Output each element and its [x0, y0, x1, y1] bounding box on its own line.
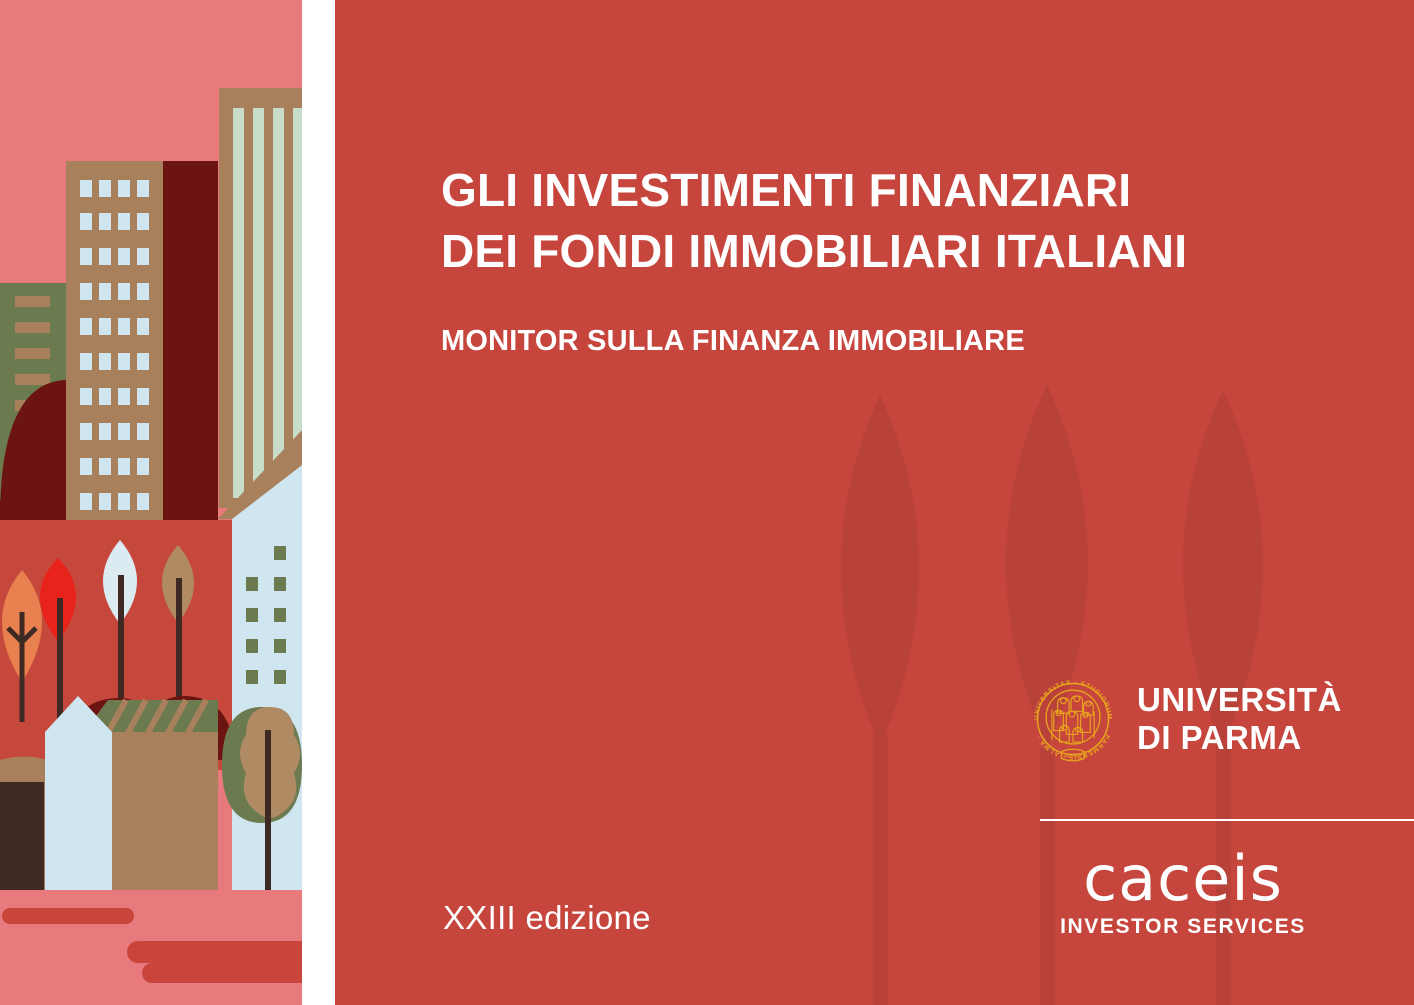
- house-body-shape: [112, 732, 218, 890]
- university-name: UNIVERSITÀ DI PARMA: [1137, 681, 1342, 756]
- cover-main-panel: GLI INVESTIMENTI FINANZIARI DEI FONDI IM…: [335, 0, 1414, 1005]
- cypress-trunk-1: [873, 735, 888, 1005]
- edition-label: XXIII edizione: [443, 899, 651, 937]
- caceis-tagline: INVESTOR SERVICES: [1033, 916, 1333, 937]
- ground-stripe-2: [127, 941, 302, 963]
- dark-brown-block: [0, 782, 44, 890]
- university-name-line-1: UNIVERSITÀ: [1137, 681, 1342, 718]
- caceis-wordmark: caceis: [1033, 848, 1333, 910]
- city-landscape-illustration: [0, 0, 302, 1005]
- logo-divider: [1040, 819, 1414, 821]
- maroon-tower-shape: [161, 161, 218, 581]
- ground-stripe-3: [142, 963, 302, 983]
- caceis-logo: caceis INVESTOR SERVICES: [1033, 848, 1333, 937]
- page-subtitle: MONITOR SULLA FINANZA IMMOBILIARE: [441, 325, 1381, 358]
- page-title-line-1: GLI INVESTIMENTI FINANZIARI: [441, 160, 1381, 221]
- page-title-line-2: DEI FONDI IMMOBILIARI ITALIANI: [441, 221, 1381, 282]
- university-name-line-2: DI PARMA: [1137, 719, 1302, 756]
- report-cover-page: GLI INVESTIMENTI FINANZIARI DEI FONDI IM…: [0, 0, 1414, 1005]
- logo-area: AD 962 UNIVERSITAS · STUDIORUM PARMENSIS…: [1025, 660, 1385, 778]
- seal-motto-top: UNIVERSITAS · STUDIORUM: [1033, 679, 1112, 720]
- ground-stripe-1: [2, 908, 134, 924]
- cover-title-block: GLI INVESTIMENTI FINANZIARI DEI FONDI IM…: [441, 160, 1381, 358]
- university-seal-icon: AD 962 UNIVERSITAS · STUDIORUM PARMENSIS…: [1025, 671, 1121, 767]
- university-logo: AD 962 UNIVERSITAS · STUDIORUM PARMENSIS…: [1025, 660, 1385, 778]
- house-gable-shape: [45, 696, 112, 890]
- cypress-shape-1: [841, 395, 919, 747]
